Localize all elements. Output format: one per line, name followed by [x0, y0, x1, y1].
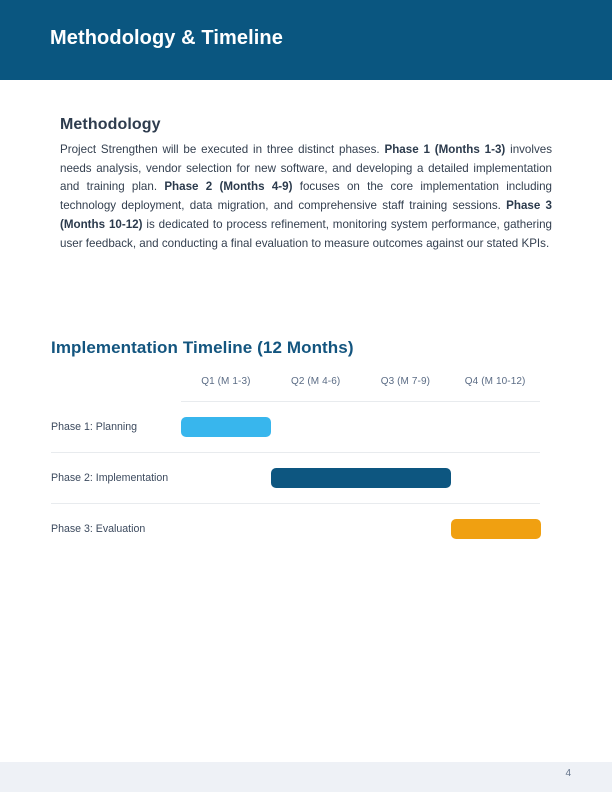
- gantt-row-label: Phase 2: Implementation: [51, 470, 181, 486]
- paragraph-run: Project Strengthen will be executed in t…: [60, 143, 384, 156]
- gantt-bar-phase-2[interactable]: [271, 468, 451, 488]
- page-header-banner: Methodology & Timeline: [0, 0, 612, 80]
- gantt-column-header-q1: Q1 (M 1-3): [181, 376, 271, 387]
- methodology-heading: Methodology: [60, 116, 552, 134]
- methodology-section: Methodology Project Strengthen will be e…: [60, 116, 552, 253]
- methodology-paragraph: Project Strengthen will be executed in t…: [60, 141, 552, 253]
- gantt-row-label: Phase 3: Evaluation: [51, 521, 181, 537]
- gantt-chart: Q1 (M 1-3)Q2 (M 4-6)Q3 (M 7-9)Q4 (M 10-1…: [51, 376, 540, 554]
- gantt-row-track: [181, 504, 540, 554]
- gantt-column-headers: Q1 (M 1-3)Q2 (M 4-6)Q3 (M 7-9)Q4 (M 10-1…: [181, 376, 540, 402]
- timeline-heading: Implementation Timeline (12 Months): [51, 338, 543, 358]
- gantt-row: Phase 3: Evaluation: [51, 504, 540, 554]
- gantt-column-header-q2: Q2 (M 4-6): [271, 376, 361, 387]
- phase-label-emphasis: Phase 2 (Months 4-9): [164, 180, 292, 193]
- page-footer: [0, 762, 612, 792]
- gantt-column-header-q4: Q4 (M 10-12): [450, 376, 540, 387]
- page-number: 4: [565, 768, 571, 779]
- page-title: Methodology & Timeline: [50, 27, 283, 50]
- timeline-section: Implementation Timeline (12 Months) Q1 (…: [51, 338, 543, 554]
- gantt-row: Phase 2: Implementation: [51, 453, 540, 504]
- gantt-bar-phase-3[interactable]: [451, 519, 541, 539]
- gantt-row-track: [181, 402, 540, 452]
- gantt-row-label: Phase 1: Planning: [51, 419, 181, 435]
- gantt-row: Phase 1: Planning: [51, 402, 540, 453]
- gantt-bar-phase-1[interactable]: [181, 417, 271, 437]
- gantt-row-track: [181, 453, 540, 503]
- gantt-column-header-q3: Q3 (M 7-9): [361, 376, 451, 387]
- phase-label-emphasis: Phase 1 (Months 1-3): [384, 143, 505, 156]
- gantt-rows: Phase 1: PlanningPhase 2: Implementation…: [51, 402, 540, 554]
